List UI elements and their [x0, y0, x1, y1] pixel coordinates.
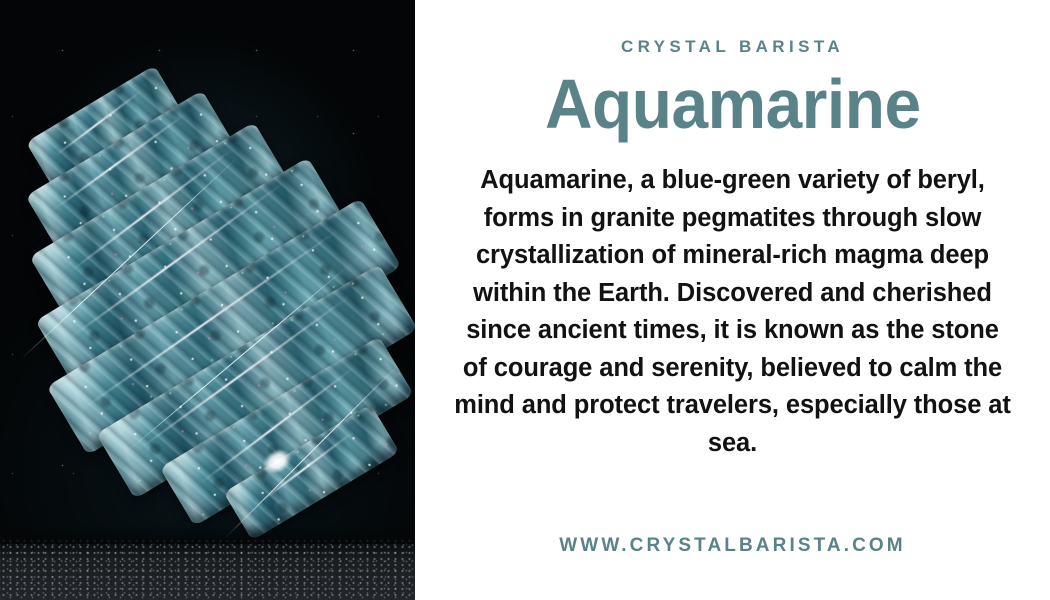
- brand-eyebrow: CRYSTAL BARISTA: [621, 38, 844, 55]
- website-url: WWW.CRYSTALBARISTA.COM: [415, 536, 1050, 555]
- speckled-surface-base: [0, 538, 415, 600]
- description-paragraph: Aquamarine, a blue-green variety of bery…: [453, 162, 1013, 462]
- aquamarine-info-card: CRYSTAL BARISTA Aquamarine Aquamarine, a…: [0, 0, 1050, 600]
- page-title: Aquamarine: [545, 69, 921, 140]
- photo-black-backdrop: [0, 0, 415, 600]
- crystal-photo-panel: [0, 0, 415, 600]
- text-content-panel: CRYSTAL BARISTA Aquamarine Aquamarine, a…: [415, 0, 1050, 600]
